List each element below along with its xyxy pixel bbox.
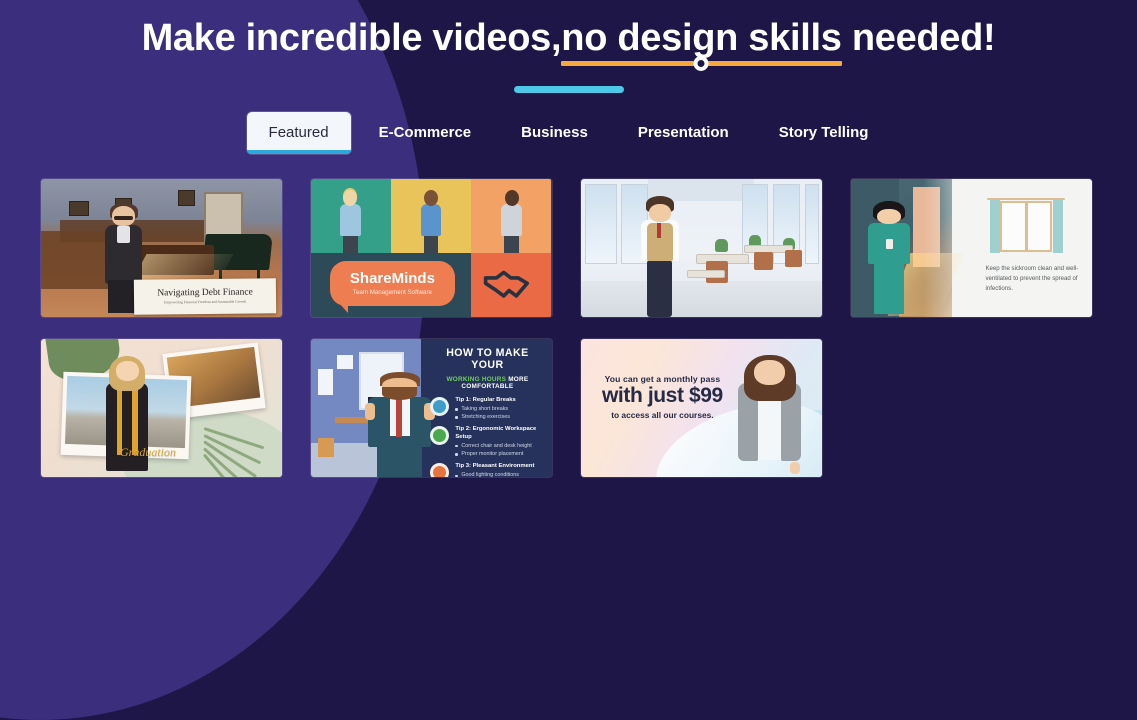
tab-e-commerce[interactable]: E-Commerce: [357, 112, 494, 154]
infographic-subheading: WORKING HOURS MORE COMFORTABLE: [430, 376, 544, 390]
infographic-heading: HOW TO MAKE YOUR: [430, 347, 544, 371]
tips-list: Tip 1: Regular Breaks Taking short break…: [430, 397, 544, 477]
promo-copy: You can get a monthly pass with just $99…: [597, 374, 727, 419]
template-thumbnail: ShareMinds Team Management Software: [311, 179, 552, 317]
template-card-shareminds[interactable]: ShareMinds Team Management Software: [311, 179, 552, 317]
template-card-graduation[interactable]: Graduation: [41, 339, 282, 477]
window: [585, 184, 616, 264]
wall-picture: [178, 190, 195, 207]
template-thumbnail: Keep the sickroom clean and well-ventila…: [851, 179, 1092, 317]
tip-bullet: Proper monitor placement: [455, 450, 544, 458]
divider-wrapper: [0, 86, 1137, 93]
template-thumbnail: Graduation: [41, 339, 282, 477]
tip-item: Tip 3: Pleasant Environment Good lightin…: [430, 463, 544, 476]
promo-line-3: to access all our courses.: [597, 410, 727, 420]
template-thumbnail: Navigating Debt Finance Empowering Finan…: [41, 179, 282, 317]
chair: [754, 252, 773, 270]
page-title: Make incredible videos,no design skills …: [0, 0, 1137, 62]
handshake-icon: [482, 264, 540, 303]
template-title: Navigating Debt Finance: [158, 288, 254, 299]
template-thumbnail: [581, 179, 822, 317]
tip-bullet: Good lighting conditions: [455, 471, 544, 476]
desk: [687, 270, 726, 278]
tip-title: Tip 3: Pleasant Environment: [455, 463, 544, 470]
template-card-bright-office-presenter[interactable]: [581, 179, 822, 317]
template-card-navigating-debt-finance[interactable]: Navigating Debt Finance Empowering Finan…: [41, 179, 282, 317]
avatar-student: [638, 196, 681, 316]
tip-item: Tip 1: Regular Breaks Taking short break…: [430, 397, 544, 422]
brand-tagline: Team Management Software: [353, 289, 432, 296]
tab-business[interactable]: Business: [499, 112, 610, 154]
fern-decoration: [204, 424, 267, 471]
ergonomics-icon: [430, 426, 449, 445]
headline-highlight-text: no design skills: [561, 17, 841, 59]
tab-story-telling[interactable]: Story Telling: [757, 112, 891, 154]
breaks-icon: [430, 397, 449, 416]
tip-item: Tip 2: Ergonomic Workspace Setup Correct…: [430, 426, 544, 458]
window: [805, 184, 819, 264]
tip-bullet: Taking short breaks: [455, 405, 544, 413]
brand-name: ShareMinds: [350, 271, 435, 286]
headline-part-2: needed!: [842, 17, 996, 59]
template-grid: Navigating Debt Finance Empowering Finan…: [41, 179, 1097, 477]
headline-highlight: no design skills: [561, 17, 841, 62]
template-card-working-hours-infographic[interactable]: HOW TO MAKE YOUR WORKING HOURS MORE COMF…: [311, 339, 552, 477]
template-card-sickroom-hygiene[interactable]: Keep the sickroom clean and well-ventila…: [851, 179, 1092, 317]
infographic-subheading-highlight: WORKING HOURS: [446, 376, 506, 383]
thumbnail-caption: Keep the sickroom clean and well-ventila…: [985, 264, 1081, 294]
promo-price-line: with just $99: [597, 385, 727, 407]
avatar-woman: [501, 190, 523, 252]
photo-fade-overlay: [923, 179, 986, 317]
avatar-man: [420, 190, 442, 252]
wall-picture: [69, 201, 88, 216]
plant: [715, 239, 727, 251]
tab-presentation[interactable]: Presentation: [616, 112, 751, 154]
avatar-nurse: [867, 201, 910, 314]
window-illustration: [990, 198, 1062, 256]
template-thumbnail: HOW TO MAKE YOUR WORKING HOURS MORE COMF…: [311, 339, 552, 477]
chair: [785, 250, 802, 267]
underline-dot-marker: [694, 56, 709, 71]
template-card-monthly-pass[interactable]: You can get a monthly pass with just $99…: [581, 339, 822, 477]
brand-speech-bubble: ShareMinds Team Management Software: [330, 261, 455, 305]
tip-bullet: Correct chair and desk height: [455, 442, 544, 450]
hero-section: Make incredible videos,no design skills …: [0, 0, 1137, 516]
infographic-panel: HOW TO MAKE YOUR WORKING HOURS MORE COMF…: [421, 339, 551, 477]
floor: [581, 281, 822, 317]
headline-part-1: Make incredible videos,: [142, 17, 562, 59]
avatar-businesswoman: [737, 355, 802, 476]
avatar-blonde-woman: [339, 190, 361, 252]
section-divider: [514, 86, 624, 93]
template-thumbnail: You can get a monthly pass with just $99…: [581, 339, 822, 477]
category-tabs: Featured E-Commerce Business Presentatio…: [0, 112, 1137, 154]
promo-line-1: You can get a monthly pass: [597, 374, 727, 384]
template-subtitle: Empowering Financial Freedom and Sustain…: [165, 300, 247, 305]
graduation-script-text: Graduation: [120, 445, 176, 460]
environment-icon: [430, 463, 449, 476]
tab-featured[interactable]: Featured: [247, 112, 351, 154]
tip-title: Tip 2: Ergonomic Workspace Setup: [455, 426, 544, 441]
thumbnail-title-banner: Navigating Debt Finance Empowering Finan…: [134, 279, 277, 315]
tip-title: Tip 1: Regular Breaks: [455, 397, 544, 404]
tip-bullet: Stretching exercises: [455, 413, 544, 421]
